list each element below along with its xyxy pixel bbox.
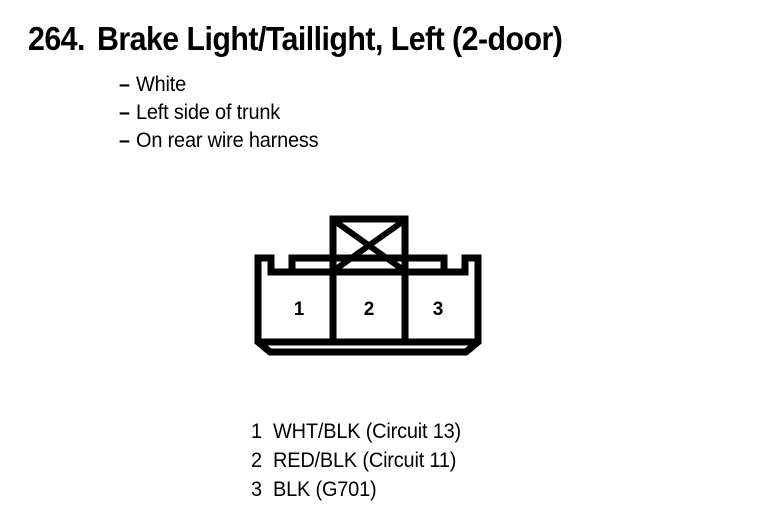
legend-pin-number: 3	[251, 475, 272, 504]
legend-wire-label: RED/BLK (Circuit 11)	[273, 446, 456, 475]
connector-number: 264.	[28, 20, 85, 58]
connector-diagram-page: { "header": { "number": "264.", "title":…	[0, 0, 768, 520]
list-item-label: On rear wire harness	[136, 127, 318, 155]
cavity-number-3: 3	[433, 299, 444, 320]
bullet-dash-icon: –	[119, 99, 135, 127]
bullet-dash-icon: –	[119, 127, 135, 155]
list-item: – On rear wire harness	[119, 127, 549, 155]
list-item: – White	[119, 71, 549, 99]
list-item-label: Left side of trunk	[136, 99, 280, 127]
connector-diagram: 1 2 3	[248, 206, 488, 366]
wire-legend: 1 WHT/BLK (Circuit 13) 2 RED/BLK (Circui…	[251, 417, 671, 504]
legend-pin-number: 1	[251, 417, 272, 446]
lock-tab	[333, 219, 405, 272]
list-item: – Left side of trunk	[119, 99, 549, 127]
page-title: 264. Brake Light/Taillight, Left (2-door…	[28, 20, 754, 64]
legend-wire-label: WHT/BLK (Circuit 13)	[273, 417, 461, 446]
cavity-number-2: 2	[364, 299, 375, 320]
cavity-number-1: 1	[294, 299, 305, 320]
bullet-dash-icon: –	[119, 71, 135, 99]
legend-row: 1 WHT/BLK (Circuit 13)	[251, 417, 671, 446]
legend-row: 3 BLK (G701)	[251, 475, 671, 504]
connector-title: Brake Light/Taillight, Left (2-door)	[97, 20, 562, 58]
legend-wire-label: BLK (G701)	[273, 475, 376, 504]
description-list: – White – Left side of trunk – On rear w…	[119, 71, 549, 155]
list-item-label: White	[136, 71, 186, 99]
legend-row: 2 RED/BLK (Circuit 11)	[251, 446, 671, 475]
connector-svg: 1 2 3	[248, 206, 488, 366]
legend-pin-number: 2	[251, 446, 272, 475]
